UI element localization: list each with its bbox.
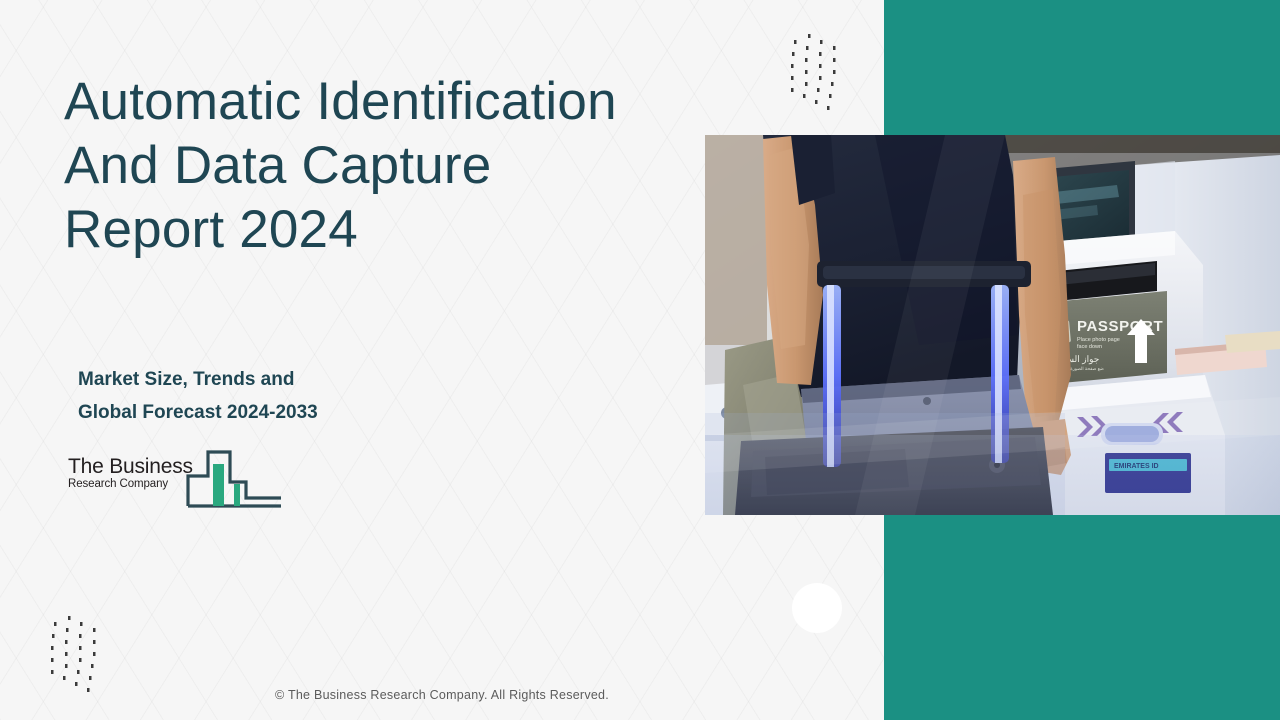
svg-text:Place photo page: Place photo page	[1077, 337, 1120, 343]
page-title: Automatic Identification And Data Captur…	[64, 70, 664, 262]
logo-line-the-business: The Business	[68, 456, 200, 477]
bar-chart-logo-mark	[186, 448, 283, 508]
company-logo: The Business Research Company	[68, 448, 283, 510]
hero-photo: PASSPORT Place photo page face down جواز…	[705, 135, 1280, 515]
logo-line-research-company: Research Company	[68, 479, 200, 491]
decorative-circle	[792, 583, 842, 633]
presentation-slide: PASSPORT Place photo page face down جواز…	[0, 0, 1280, 720]
dot-grid-top-right	[786, 14, 856, 110]
logo-wordmark: The Business Research Company	[68, 456, 200, 491]
svg-text:face down: face down	[1077, 344, 1102, 350]
slide-subtitle: Market Size, Trends and Global Forecast …	[78, 363, 508, 429]
dot-grid-bottom-left	[46, 596, 116, 692]
copyright-footer: © The Business Research Company. All Rig…	[0, 688, 884, 702]
